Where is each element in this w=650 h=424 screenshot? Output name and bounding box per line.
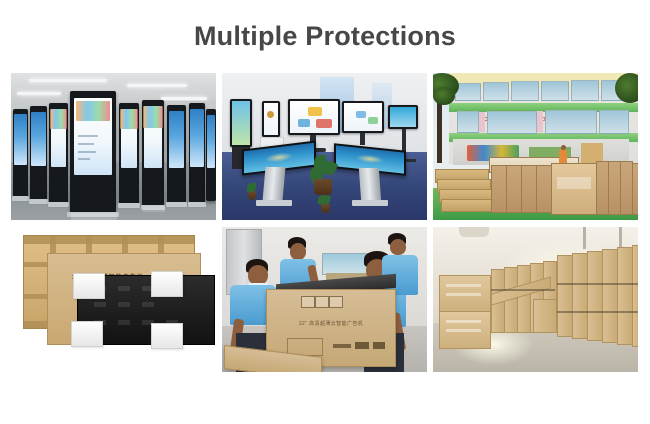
photo-3-scene: CHILDLIKE JOY KINDERGARTEN (433, 73, 638, 220)
page-title: Multiple Protections (0, 18, 650, 54)
page-root: Multiple Protections (0, 0, 650, 424)
photo-tile-packaging-layers[interactable]: 32寸壁挂式智能广告机 (11, 227, 216, 372)
photo-4-scene: 32寸壁挂式智能广告机 (11, 227, 216, 372)
photo-2-scene (222, 73, 427, 220)
photo-tile-touch-tables[interactable] (222, 73, 427, 220)
photo-tile-outdoor-delivery[interactable]: CHILDLIKE JOY KINDERGARTEN (433, 73, 638, 220)
photo-tile-showroom-kiosks[interactable] (11, 73, 216, 220)
photo-tile-workers-packing[interactable]: 32" 高清超薄云智能广告机 (222, 227, 427, 372)
photo-gallery-grid: CHILDLIKE JOY KINDERGARTEN (11, 73, 639, 372)
photo-5-scene: 32" 高清超薄云智能广告机 (222, 227, 427, 372)
photo-1-scene (11, 73, 216, 220)
photo-tile-warehouse[interactable] (433, 227, 638, 372)
photo-6-scene (433, 227, 638, 372)
photo-5-carton-text: 32" 高清超薄云智能广告机 (267, 320, 395, 327)
